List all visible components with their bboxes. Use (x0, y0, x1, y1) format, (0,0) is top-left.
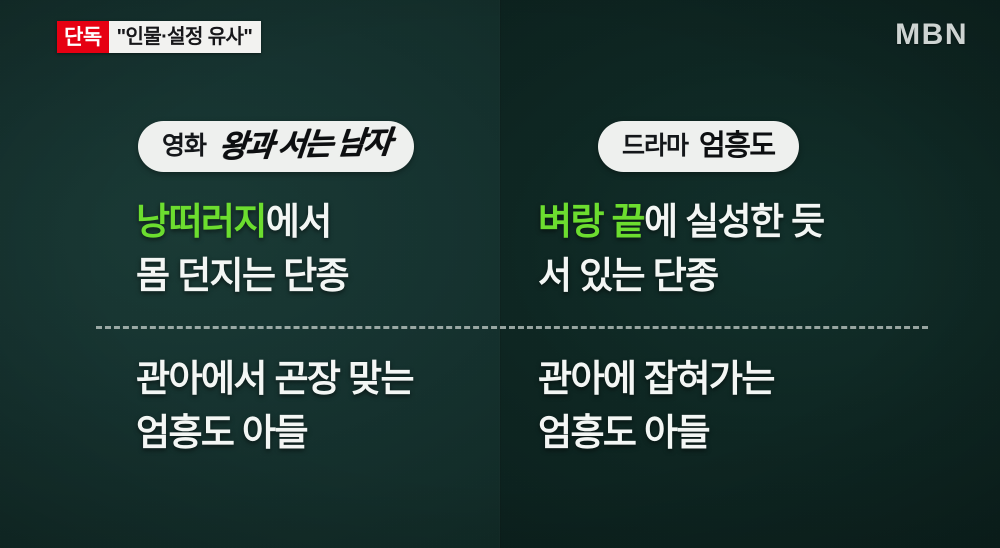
highlight-term: 벼랑 끝 (538, 201, 644, 242)
text-line: 엄흥도 아들 (538, 409, 1000, 456)
plain-term: 엄흥도 아들 (538, 412, 709, 453)
column-movie: 영화 왕과 서는 남자 낭떠러지에서 몸 던지는 단종 관아에서 곤장 맞는 엄… (0, 0, 500, 548)
text-line: 관아에 잡혀가는 (538, 355, 1000, 402)
movie-title-pill: 영화 왕과 서는 남자 (138, 121, 414, 172)
drama-scene-cliff-block: 벼랑 끝에 실성한 듯 서 있는 단종 (500, 198, 1000, 300)
broadcast-graphic-screen: 단독 "인물·설정 유사" MBN 영화 왕과 서는 남자 낭떠러지에서 몸 던… (0, 0, 1000, 548)
column-drama: 드라마 엄흥도 벼랑 끝에 실성한 듯 서 있는 단종 관아에 잡혀가는 엄흥도… (500, 0, 1000, 548)
plain-term: 관아에 잡혀가는 (538, 358, 774, 399)
plain-term: 엄흥도 아들 (136, 412, 307, 453)
plain-term: 에 실성한 듯 (644, 201, 824, 242)
highlight-term: 낭떠러지 (136, 201, 266, 242)
movie-kind-label: 영화 (162, 134, 206, 159)
plain-term: 몸 던지는 단종 (136, 255, 348, 296)
movie-title-text: 왕과 서는 남자 (218, 127, 392, 162)
text-line: 서 있는 단종 (538, 252, 1000, 299)
drama-kind-label: 드라마 (622, 134, 688, 159)
plain-term: 관아에서 곤장 맞는 (136, 358, 413, 399)
drama-scene-son-block: 관아에 잡혀가는 엄흥도 아들 (500, 355, 1000, 457)
plain-term: 서 있는 단종 (538, 255, 718, 296)
section-divider (96, 326, 928, 329)
drama-title-pill: 드라마 엄흥도 (598, 121, 799, 172)
plain-term: 에서 (266, 201, 331, 242)
text-line: 벼랑 끝에 실성한 듯 (538, 198, 1000, 245)
drama-title-text: 엄흥도 (699, 132, 775, 161)
